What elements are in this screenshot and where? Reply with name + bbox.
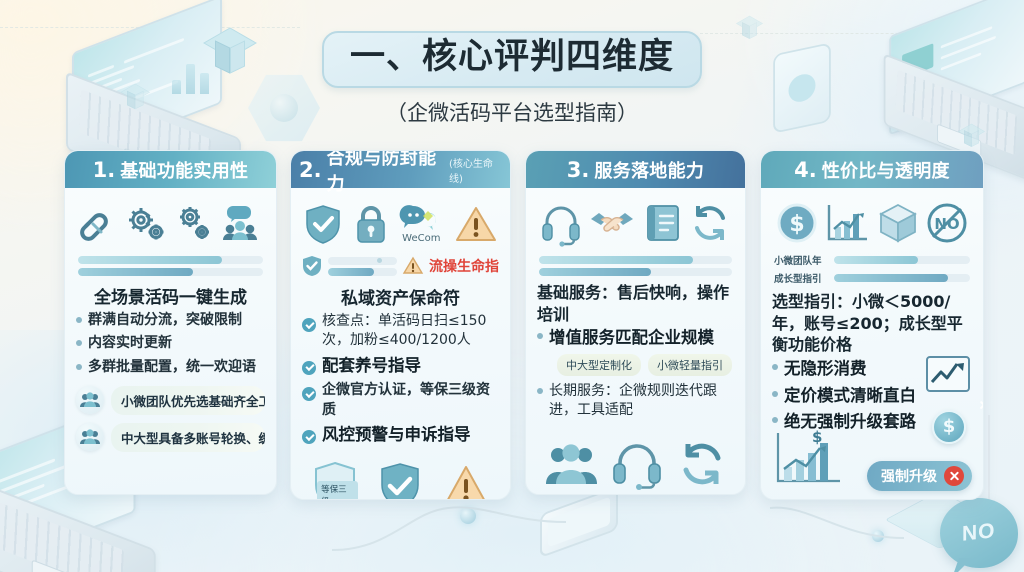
shield-check-icon: [302, 255, 322, 277]
list-item: 内容实时更新: [76, 334, 265, 353]
check-circle-icon: [302, 387, 316, 401]
no-sign-icon: NO: [926, 202, 968, 244]
gear-small-icon: [177, 205, 211, 241]
bar-with-label: 小微团队年: [774, 253, 970, 267]
bullet-dot-icon: [537, 333, 543, 339]
alert-row: 流操生命指: [302, 255, 499, 277]
recommendation-pills: 小微团队优先选基础齐全工具 中大型具备多账号轮换、缓冲页: [76, 386, 265, 452]
card-lead-text: 全场景活码一键生成: [76, 283, 265, 308]
list-item: 风控预警与申诉指导: [302, 424, 499, 447]
list-item-label: 核查点：单活码日扫≤150次，加粉≤400/1200人: [322, 312, 499, 351]
list-item-label: 长期服务：企微规则迭代跟进，工具适配: [549, 382, 734, 421]
feature-list: 增值服务匹配企业规模: [537, 327, 734, 350]
warning-triangle-icon: [455, 205, 497, 243]
feature-list: 群满自动分流，突破限制 内容实时更新 多群批量配置，统一欢迎语: [76, 311, 265, 377]
progress-bar: [539, 268, 732, 276]
progress-bar: [539, 256, 732, 264]
check-circle-icon: [302, 318, 316, 332]
list-item: 配套养号指导: [302, 355, 499, 378]
page-title: 一、核心评判四维度: [350, 37, 674, 78]
tag-row: 中大型定制化 小微轻量指引: [557, 354, 734, 376]
users-icon: [76, 423, 104, 451]
icon-row: WeCom: [302, 199, 499, 249]
infographic-canvas: NO 一、核心评判四维度 （企微活码平台选型指南） 1. 基础功能实用性: [0, 0, 1024, 572]
card-compliance[interactable]: 2. 合规与防封能力 (核心生命线): [290, 150, 511, 500]
wecom-icon: [399, 204, 443, 232]
tag[interactable]: 小微轻量指引: [648, 354, 732, 376]
card-body: 全场景活码一键生成 群满自动分流，突破限制 内容实时更新 多群批量配置，统一欢迎…: [65, 188, 276, 494]
bullet-dot-icon: [76, 317, 82, 323]
bullet-dot-icon: [76, 340, 82, 346]
card-number: 1.: [93, 158, 116, 182]
card-service[interactable]: 3. 服务落地能力: [525, 150, 746, 495]
list-item-label: 风控预警与申诉指导: [322, 424, 471, 447]
list-item: 增值服务匹配企业规模: [537, 327, 734, 350]
refresh-icon: [690, 204, 730, 242]
card-number: 3.: [567, 158, 590, 182]
list-item: 多群批量配置，统一欢迎语: [76, 358, 265, 377]
refresh-icon: [678, 442, 726, 486]
pill-label: 中大型具备多账号轮换、缓冲页: [111, 423, 265, 452]
footer-icons: [537, 435, 734, 487]
badge-label: 强制升级: [881, 466, 937, 486]
cube-icon: [877, 202, 919, 244]
card-header: 4. 性价比与透明度: [761, 151, 983, 188]
progress-bar: [78, 268, 263, 276]
feature-list: 核查点：单活码日扫≤150次，加粉≤400/1200人 配套养号指导 企微官方认…: [302, 312, 499, 447]
list-item-label: 配套养号指导: [322, 355, 421, 378]
footer-icons: 等保三级: [302, 455, 499, 500]
list-item: 企微官方认证，等保三级资质: [302, 381, 499, 420]
bullet-dot-icon: [537, 388, 543, 394]
shield-check-icon: [304, 204, 342, 244]
card-value-transparency[interactable]: 4. 性价比与透明度 $: [760, 150, 984, 500]
bullet-dot-icon: [772, 391, 778, 397]
card-header: 3. 服务落地能力: [526, 151, 745, 188]
no-bubble-text: NO: [962, 519, 996, 547]
card-lead-text: 私域资产保命符: [302, 284, 499, 309]
progress-bars: [78, 256, 263, 276]
card-lead-text: 基础服务：售后快响，操作培训: [537, 282, 734, 325]
bullet-dot-icon: [76, 364, 82, 370]
card-footer: $ 强制升级: [772, 429, 972, 491]
headset-icon: [612, 441, 662, 487]
growth-chart-icon: [825, 203, 869, 243]
bullet-dot-icon: [772, 364, 778, 370]
wecom-block: WeCom: [399, 204, 443, 244]
recommendation-pill[interactable]: 中大型具备多账号轮换、缓冲页: [76, 423, 265, 452]
list-item-label: 定价模式清晰直白: [784, 385, 916, 408]
recommendation-pill[interactable]: 小微团队优先选基础齐全工具: [76, 386, 265, 415]
users-icon: [76, 386, 104, 414]
check-circle-icon: [302, 361, 316, 375]
cert-shield-icon: 等保三级: [312, 461, 358, 500]
progress-bars: 小微团队年 成长型指引: [774, 253, 970, 285]
page-subtitle: （企微活码平台选型指南）: [0, 97, 1024, 127]
header: 一、核心评判四维度 （企微活码平台选型指南）: [0, 31, 1024, 127]
card-header: 1. 基础功能实用性: [65, 151, 276, 188]
bar-label: 成长型指引: [774, 271, 828, 285]
progress-bar: [78, 256, 263, 264]
x-circle-icon[interactable]: [944, 466, 964, 486]
list-item: 群满自动分流，突破限制: [76, 311, 265, 330]
card-lead-text: 选型指引：小微＜5000/年，账号≤200；成长型平衡功能价格: [772, 291, 972, 356]
alert-text: 流操生命指: [429, 256, 499, 276]
list-item-label: 增值服务匹配企业规模: [549, 327, 714, 350]
list-item-label: 内容实时更新: [88, 334, 172, 353]
card-body: $: [761, 188, 983, 499]
link-icon: [80, 206, 116, 240]
card-title: 性价比与透明度: [822, 157, 950, 183]
lock-icon: [354, 204, 388, 244]
warning-triangle-icon: [443, 464, 489, 500]
progress-bars: [539, 256, 732, 276]
list-item-label: 企微官方认证，等保三级资质: [322, 381, 499, 420]
book-icon: [644, 203, 682, 243]
handshake-icon: [589, 206, 635, 240]
card-header: 2. 合规与防封能力 (核心生命线): [291, 151, 510, 188]
list-item-label: 无隐形消费: [784, 358, 867, 381]
svg-text:$: $: [812, 428, 822, 446]
feature-list: 长期服务：企微规则迭代跟进，工具适配: [537, 382, 734, 421]
list-item: 核查点：单活码日扫≤150次，加粉≤400/1200人: [302, 312, 499, 351]
icon-row: [76, 199, 265, 249]
icon-row: $: [772, 199, 972, 249]
users-icon: [545, 442, 597, 486]
bar-with-label: 成长型指引: [774, 271, 970, 285]
dollar-growth-chart-icon: $: [772, 429, 846, 491]
title-pill: 一、核心评判四维度: [322, 31, 702, 88]
card-body: 基础服务：售后快响，操作培训 增值服务匹配企业规模 中大型定制化 小微轻量指引 …: [526, 188, 745, 494]
cards-row: 1. 基础功能实用性: [0, 150, 1024, 510]
cert-badge-label: 等保三级: [317, 481, 358, 500]
card-title: 基础功能实用性: [120, 157, 248, 183]
card-body: WeCom: [291, 188, 510, 499]
list-item-label: 多群批量配置，统一欢迎语: [88, 358, 256, 377]
progress-bar: [834, 256, 970, 264]
trend-down-box-icon: [926, 356, 970, 392]
tag[interactable]: 中大型定制化: [557, 354, 641, 376]
list-item-label: 群满自动分流，突破限制: [88, 311, 242, 330]
svg-text:$: $: [789, 212, 804, 237]
headset-icon: [541, 204, 581, 242]
bar-label: 小微团队年: [774, 253, 828, 267]
wecom-label: WeCom: [399, 233, 443, 244]
card-basic-features[interactable]: 1. 基础功能实用性: [64, 150, 277, 495]
list-item: 长期服务：企微规则迭代跟进，工具适配: [537, 382, 734, 421]
forced-upgrade-badge[interactable]: 强制升级: [867, 461, 972, 491]
check-circle-icon: [302, 430, 316, 444]
warning-triangle-icon: [403, 257, 423, 275]
bullet-dot-icon: [772, 417, 778, 423]
card-number: 4.: [794, 158, 817, 182]
card-number: 2.: [299, 158, 322, 182]
shield-check-icon: [378, 462, 422, 500]
gears-icon: [124, 205, 168, 241]
pill-label: 小微团队优先选基础齐全工具: [111, 386, 265, 415]
dollar-coin-icon: $: [776, 202, 818, 244]
card-subtitle: (核心生命线): [449, 155, 502, 185]
icon-row: [537, 199, 734, 249]
card-title: 服务落地能力: [594, 157, 704, 183]
group-chat-icon: [219, 205, 261, 241]
progress-bar: [834, 274, 970, 282]
